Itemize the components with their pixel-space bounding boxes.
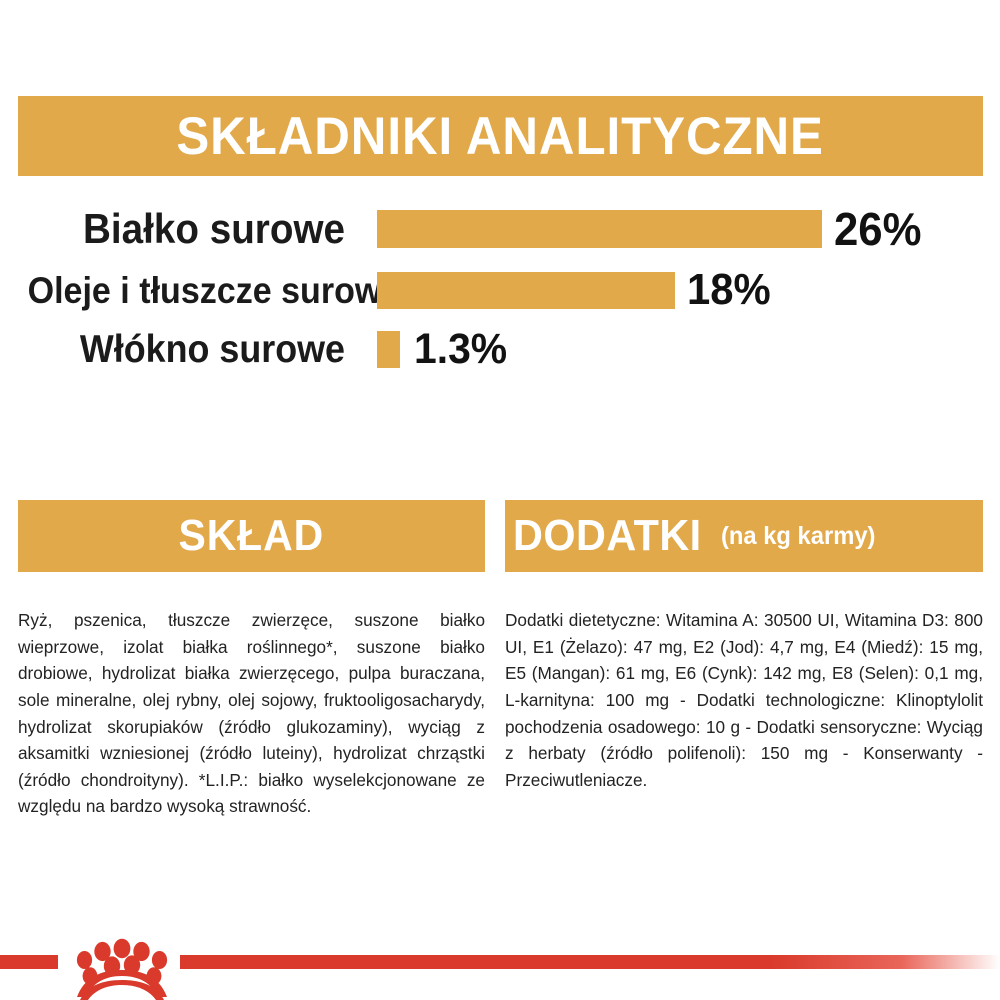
chart-row: Włókno surowe 1.3% <box>0 322 1000 377</box>
chart-row: Białko surowe 26% <box>0 200 1000 258</box>
chart-bar-value: 26% <box>834 206 921 252</box>
nutrition-bar-chart: Białko surowe 26% Oleje i tłuszcze surow… <box>0 196 1000 381</box>
analytical-constituents-banner: SKŁADNIKI ANALITYCZNE <box>18 96 983 176</box>
royal-canin-crown-icon <box>66 938 178 1000</box>
footer-brand-bar <box>0 938 1000 1000</box>
footer-stripe-left <box>0 955 58 969</box>
composition-title: SKŁAD <box>179 514 325 558</box>
additives-banner: DODATKI (na kg karmy) <box>505 500 983 572</box>
chart-bar-label: Oleje i tłuszcze surowe <box>28 272 345 309</box>
chart-bar <box>377 272 675 309</box>
composition-banner: SKŁAD <box>18 500 485 572</box>
additives-title: DODATKI <box>513 514 702 558</box>
product-label-page: SKŁADNIKI ANALITYCZNE Białko surowe 26% … <box>0 0 1000 1000</box>
chart-bar-value: 18% <box>687 268 771 312</box>
footer-stripe-right <box>180 955 1000 969</box>
chart-bar <box>377 210 822 248</box>
chart-bar-group: 1.3% <box>377 328 512 371</box>
chart-row: Oleje i tłuszcze surowe 18% <box>0 262 1000 318</box>
chart-bar <box>377 331 400 368</box>
chart-bar-group: 26% <box>377 206 926 252</box>
analytical-constituents-title: SKŁADNIKI ANALITYCZNE <box>177 110 824 163</box>
chart-bar-label: Włókno surowe <box>28 330 345 369</box>
additives-subtitle: (na kg karmy) <box>721 524 875 549</box>
chart-bar-value: 1.3% <box>414 328 507 371</box>
additives-body-text: Dodatki dietetyczne: Witamina A: 30500 U… <box>505 607 983 793</box>
chart-bar-label: Białko surowe <box>28 208 345 250</box>
chart-bar-group: 18% <box>377 268 775 312</box>
composition-body-text: Ryż, pszenica, tłuszcze zwierzęce, suszo… <box>18 607 485 820</box>
